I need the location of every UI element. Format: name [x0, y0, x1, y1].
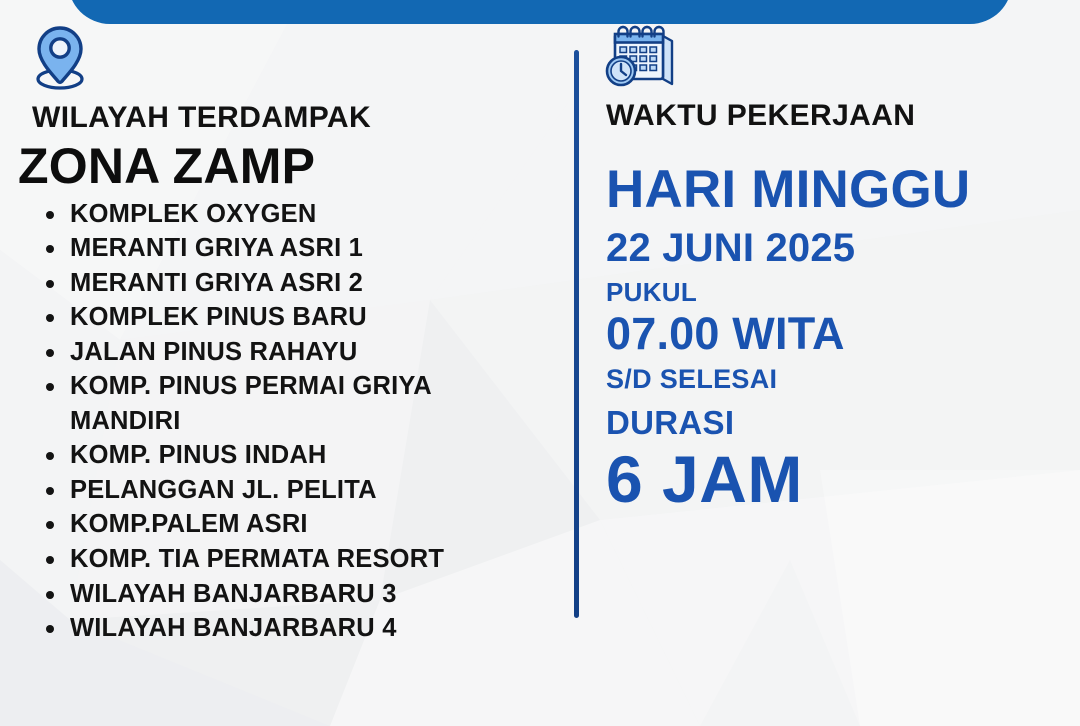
list-item: PELANGGAN JL. PELITA: [44, 473, 536, 508]
time-until-label: S/D SELESAI: [606, 365, 1080, 395]
list-item: KOMP.PALEM ASRI: [44, 507, 536, 542]
calendar-clock-icon: [604, 24, 1080, 95]
list-item: KOMPLEK OXYGEN: [44, 197, 536, 232]
right-section-title: WAKTU PEKERJAAN: [606, 99, 1080, 132]
list-item: WILAYAH BANJARBARU 4: [44, 611, 536, 646]
list-item: JALAN PINUS RAHAYU: [44, 335, 536, 370]
list-item: MERANTI GRIYA ASRI 1: [44, 231, 536, 266]
affected-area-column: WILAYAH TERDAMPAK ZONA ZAMP KOMPLEK OXYG…: [0, 24, 556, 724]
list-item: KOMP. TIA PERMATA RESORT: [44, 542, 536, 577]
work-date: 22 JUNI 2025: [606, 226, 1080, 270]
list-item: KOMP. PINUS INDAH: [44, 438, 536, 473]
location-pin-icon: [32, 24, 556, 97]
list-item: KOMP. PINUS PERMAI GRIYA MANDIRI: [44, 369, 536, 438]
list-item: WILAYAH BANJARBARU 3: [44, 577, 536, 612]
left-section-title: WILAYAH TERDAMPAK: [32, 101, 556, 134]
list-item: KOMPLEK PINUS BARU: [44, 300, 536, 335]
duration-label: DURASI: [606, 405, 1080, 441]
top-banner: waktu.: [68, 0, 1012, 24]
announcement-poster: waktu. WILAYAH TERDAMPAK ZONA ZAMP KOMPL…: [0, 0, 1080, 726]
time-label: PUKUL: [606, 278, 1080, 307]
work-time-column: WAKTU PEKERJAAN HARI MINGGU 22 JUNI 2025…: [596, 24, 1080, 724]
affected-area-list: KOMPLEK OXYGEN MERANTI GRIYA ASRI 1 MERA…: [0, 197, 556, 646]
work-day: HARI MINGGU: [606, 162, 1080, 218]
zone-title: ZONA ZAMP: [18, 140, 556, 193]
column-divider: [574, 50, 579, 618]
time-value: 07.00 WITA: [606, 310, 1080, 359]
list-item: MERANTI GRIYA ASRI 2: [44, 266, 536, 301]
duration-value: 6 JAM: [606, 445, 1080, 514]
